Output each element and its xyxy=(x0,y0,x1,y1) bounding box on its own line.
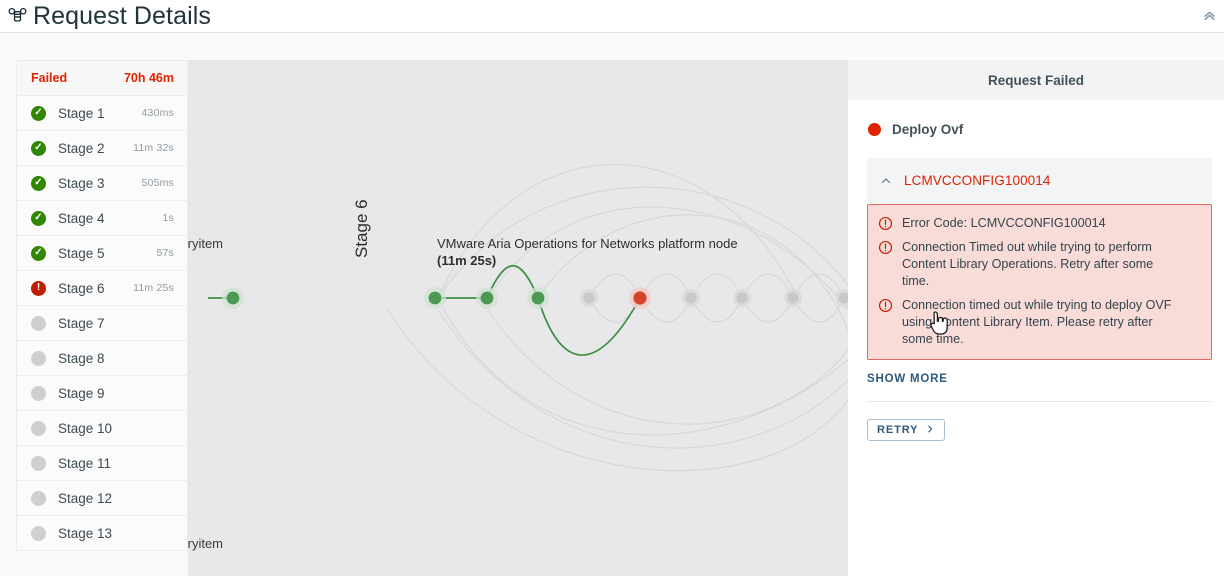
stage-duration: 57s xyxy=(156,247,174,259)
stage-name: Stage 9 xyxy=(58,386,174,401)
error-text: Error Code: LCMVCCONFIG100014 xyxy=(902,215,1106,232)
error-text: Connection timed out while trying to dep… xyxy=(902,297,1182,348)
stage-list-header: Failed 70h 46m xyxy=(17,61,187,96)
check-circle-icon: ✓ xyxy=(31,211,46,226)
error-code-accordion[interactable]: LCMVCCONFIG100014 xyxy=(867,158,1212,203)
error-line: Error Code: LCMVCCONFIG100014 xyxy=(878,215,1199,232)
stage-row[interactable]: ✓Stage 557s xyxy=(17,236,187,271)
pending-circle-icon xyxy=(31,491,46,506)
stage-row[interactable]: ✓Stage 211m 32s xyxy=(17,131,187,166)
pipeline-graph-canvas[interactable]: Stage 6 VMware Aria Operations for Netwo… xyxy=(188,60,848,576)
stage-row[interactable]: Stage 11 xyxy=(17,446,187,481)
stage-list: Failed 70h 46m ✓Stage 1430ms✓Stage 211m … xyxy=(16,60,188,551)
stage-name: Stage 6 xyxy=(58,281,133,296)
page-title: Request Details xyxy=(33,1,211,31)
stage-name: Stage 8 xyxy=(58,351,174,366)
show-more-link[interactable]: SHOW MORE xyxy=(867,373,948,385)
stage-name: Stage 11 xyxy=(58,456,174,471)
stage-duration: 11m 32s xyxy=(133,142,174,154)
stage-name: Stage 2 xyxy=(58,141,133,156)
error-exclamation-icon xyxy=(878,298,893,313)
error-text: Connection Timed out while trying to per… xyxy=(902,239,1182,290)
stage-row[interactable]: ✓Stage 1430ms xyxy=(17,96,187,131)
stage-row[interactable]: Stage 7 xyxy=(17,306,187,341)
stage-name: Stage 4 xyxy=(58,211,163,226)
stage-duration: 430ms xyxy=(141,107,174,119)
stage-name: Stage 3 xyxy=(58,176,141,191)
pending-circle-icon xyxy=(31,421,46,436)
check-circle-icon: ✓ xyxy=(31,141,46,156)
error-exclamation-icon xyxy=(878,240,893,255)
stage-row[interactable]: Stage 8 xyxy=(17,341,187,376)
app-header: Request Details xyxy=(0,0,1224,32)
stage-name: Stage 12 xyxy=(58,491,174,506)
stage-row[interactable]: ✓Stage 3505ms xyxy=(17,166,187,201)
task-name: Deploy Ovf xyxy=(892,122,963,137)
retry-button-label: RETRY xyxy=(877,424,918,436)
clipped-node-label-bottom: ıryitem xyxy=(188,536,223,551)
check-circle-icon: ✓ xyxy=(31,246,46,261)
chevron-right-icon xyxy=(925,424,935,437)
chevron-up-icon xyxy=(877,175,895,187)
error-exclamation-icon xyxy=(878,216,893,231)
request-detail-panel: Request Failed Deploy Ovf LCMVCCONFIG100… xyxy=(848,60,1224,576)
selected-node-duration: (11m 25s) xyxy=(437,253,496,268)
error-message-box: Error Code: LCMVCCONFIG100014Connection … xyxy=(867,204,1212,360)
stage-duration: 505ms xyxy=(141,177,174,189)
stage-duration: 11m 25s xyxy=(133,282,174,294)
stage-name: Stage 5 xyxy=(58,246,156,261)
retry-button[interactable]: RETRY xyxy=(867,419,945,441)
stage-row[interactable]: ✓Stage 41s xyxy=(17,201,187,236)
stage-row[interactable]: Stage 10 xyxy=(17,411,187,446)
error-line: Connection Timed out while trying to per… xyxy=(878,239,1199,290)
stage-axis-label: Stage 6 xyxy=(352,199,372,258)
check-circle-icon: ✓ xyxy=(31,106,46,121)
panel-divider xyxy=(867,401,1212,402)
stage-row[interactable]: Stage 9 xyxy=(17,376,187,411)
error-line: Connection timed out while trying to dep… xyxy=(878,297,1199,348)
stage-name: Stage 10 xyxy=(58,421,174,436)
stage-name: Stage 7 xyxy=(58,316,174,331)
failed-task-row: Deploy Ovf xyxy=(848,100,1224,137)
stage-row[interactable]: Stage 12 xyxy=(17,481,187,516)
pending-circle-icon xyxy=(31,456,46,471)
pending-circle-icon xyxy=(31,526,46,541)
pending-circle-icon xyxy=(31,316,46,331)
stage-name: Stage 1 xyxy=(58,106,141,121)
pending-circle-icon xyxy=(31,386,46,401)
graph-nodes xyxy=(222,287,848,576)
stage-row[interactable]: !Stage 611m 25s xyxy=(17,271,187,306)
body-area: Failed 70h 46m ✓Stage 1430ms✓Stage 211m … xyxy=(0,33,1224,576)
error-code-label: LCMVCCONFIG100014 xyxy=(904,173,1051,188)
overall-duration: 70h 46m xyxy=(124,71,174,85)
check-circle-icon: ✓ xyxy=(31,176,46,191)
double-chevron-up-icon[interactable] xyxy=(1198,4,1220,26)
detail-panel-header: Request Failed xyxy=(848,60,1224,100)
clipped-node-label-top: ıryitem xyxy=(188,236,223,251)
selected-node-title: VMware Aria Operations for Networks plat… xyxy=(437,236,738,251)
error-circle-icon: ! xyxy=(31,281,46,296)
detail-header-title: Request Failed xyxy=(988,73,1084,88)
pipeline-graph-svg xyxy=(188,60,848,576)
overall-status-label: Failed xyxy=(31,71,124,85)
task-status-dot-icon xyxy=(868,123,881,136)
stage-duration: 1s xyxy=(163,212,175,224)
stage-name: Stage 13 xyxy=(58,526,174,541)
pending-circle-icon xyxy=(31,351,46,366)
deployment-cluster-icon xyxy=(4,3,30,29)
stage-row[interactable]: Stage 13 xyxy=(17,516,187,551)
